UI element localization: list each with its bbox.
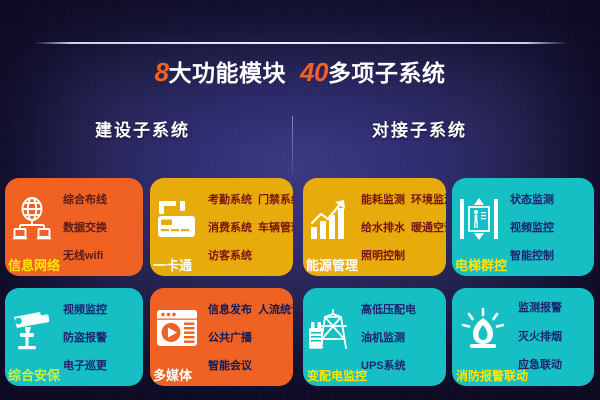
cctv-camera-icon [10,308,54,350]
elevator-icon [458,196,500,242]
card-item: 电子巡更 [63,360,107,373]
top-divider-rule [34,42,568,44]
card-item: 视频监控 [510,222,554,235]
module-card-information-network[interactable]: 信息网络 综合布线 数据交换 无线wifi [5,178,143,276]
card-item-list: 视频监控 防盗报警 电子巡更 [59,288,143,386]
section-title-integration: 对接子系统 [372,116,467,141]
headline-number-modules: 8 [155,57,169,87]
headline-text-modules: 大功能模块 [169,60,287,86]
card-item: 视频监控 [63,304,107,317]
card-item: 无线wifi [63,250,103,263]
module-card-fire-alarm-linkage[interactable]: 消防报警联动 监测报警 灭火排烟 应急联动 [452,288,594,386]
card-label: 电梯群控 [455,259,507,272]
card-item: 考勤系统 [208,194,252,207]
card-item: 能耗监测 [361,194,405,207]
card-item: 智能控制 [510,250,554,263]
card-item: 综合布线 [63,194,107,207]
card-item: 暖通空调 [411,222,446,235]
card-item: UPS系统 [361,360,406,373]
card-item: 防盗报警 [63,332,107,345]
card-item: 车辆管理 [258,222,293,235]
module-card-one-card-system[interactable]: 一卡通 考勤系统门禁系统 消费系统车辆管理 访客系统 [150,178,293,276]
card-label: 综合安保 [8,369,60,382]
card-item: 高低压配电 [361,304,416,317]
card-item: 人流统计 [258,304,293,317]
fire-alarm-icon [459,307,507,351]
module-card-energy-management[interactable]: 能源管理 能耗监测环境监测 给水排水暖通空调 照明控制 [303,178,446,276]
card-label: 能源管理 [306,259,358,272]
media-player-icon [155,308,199,350]
card-item-list: 考勤系统门禁系统 消费系统车辆管理 访客系统 [204,178,293,276]
section-title-construction: 建设子系统 [95,116,190,141]
module-card-elevator-control[interactable]: 电梯群控 状态监测 视频监控 智能控制 [452,178,594,276]
card-item: 照明控制 [361,250,405,263]
card-item: 监测报警 [518,302,562,315]
module-card-grid: 信息网络 综合布线 数据交换 无线wifi [0,178,600,400]
page-title: 8大功能模块40多项子系统 [0,54,600,88]
card-item: 环境监测 [411,194,446,207]
card-label: 变配电监控 [307,370,367,382]
card-item: 油机监测 [361,332,405,345]
network-globe-icon [12,197,52,241]
card-label: 多媒体 [153,369,192,382]
card-item-list: 综合布线 数据交换 无线wifi [59,178,143,276]
power-tower-icon [306,306,354,352]
card-label: 一卡通 [153,259,192,272]
column-divider [292,116,293,174]
module-card-multimedia[interactable]: 多媒体 信息发布人流统计 公共广播 智能会议 [150,288,293,386]
card-item: 信息发布 [208,304,252,317]
module-card-integrated-security[interactable]: 综合安保 视频监控 防盗报警 电子巡更 [5,288,143,386]
bar-chart-growth-icon [308,197,352,241]
headline-number-subsystems: 40 [300,57,328,87]
card-item: 门禁系统 [258,194,293,207]
module-card-power-distribution-monitoring[interactable]: 变配电监控 高低压配电 油机监测 UPS系统 [303,288,446,386]
card-item: 给水排水 [361,222,405,235]
card-item: 公共广播 [208,332,252,345]
card-item: 智能会议 [208,360,252,373]
card-item: 消费系统 [208,222,252,235]
card-item: 灭火排烟 [518,331,562,344]
card-item: 数据交换 [63,222,107,235]
card-item-list: 信息发布人流统计 公共广播 智能会议 [204,288,293,386]
card-item-list: 高低压配电 油机监测 UPS系统 [357,288,446,386]
id-card-icon [156,198,198,240]
infographic-poster: 8大功能模块40多项子系统 建设子系统 对接子系统 [0,0,600,400]
headline-text-subsystems: 多项子系统 [328,60,446,86]
card-item: 状态监测 [510,194,554,207]
card-item: 访客系统 [208,250,252,263]
card-label: 消防报警联动 [456,370,528,382]
card-label: 信息网络 [8,259,60,272]
card-item-list: 状态监测 视频监控 智能控制 [506,178,594,276]
card-item-list: 能耗监测环境监测 给水排水暖通空调 照明控制 [357,178,446,276]
